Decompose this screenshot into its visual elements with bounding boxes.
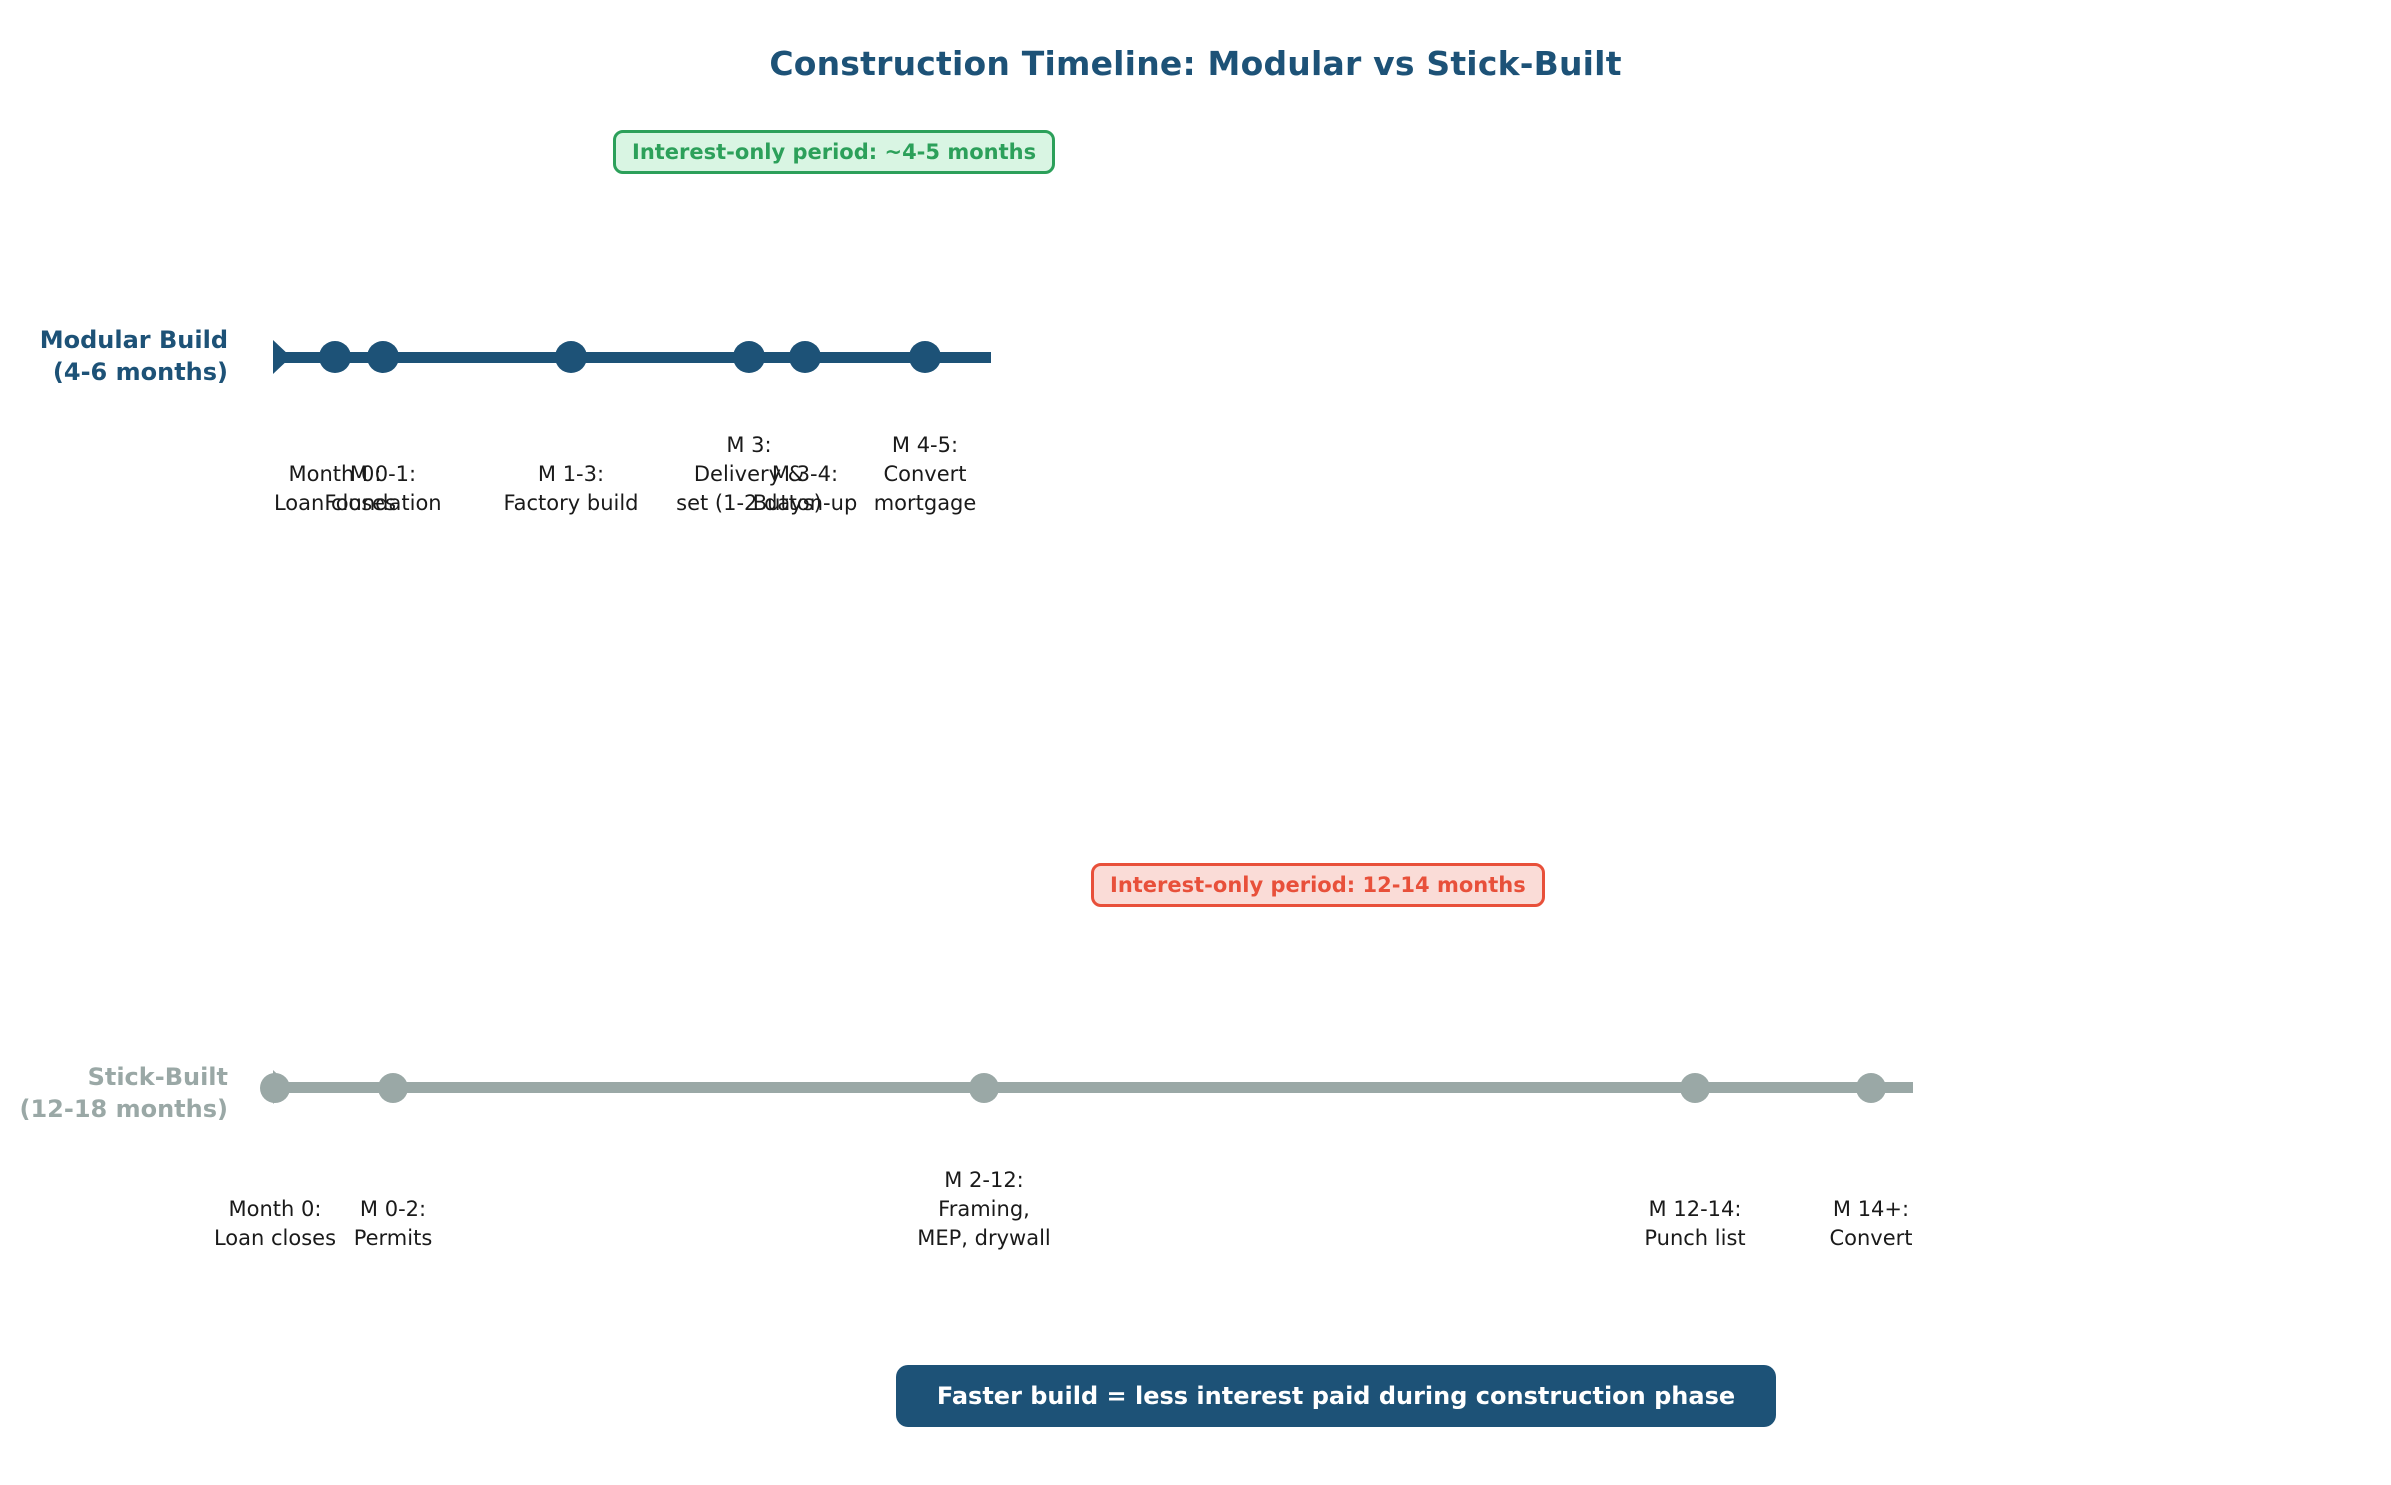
- milestone-dot[interactable]: [789, 341, 821, 373]
- milestone-label-line: Punch list: [1644, 1224, 1745, 1253]
- milestone-label: M 0-1:Foundation: [324, 460, 441, 518]
- milestone-label-line: M 0-2:: [354, 1195, 433, 1224]
- milestone-label: M 2-12:Framing,MEP, drywall: [917, 1166, 1051, 1253]
- milestone-dot[interactable]: [969, 1073, 999, 1103]
- timeline-canvas: Construction Timeline: Modular vs Stick-…: [0, 0, 2391, 1485]
- milestone-label-line: M 1-3:: [503, 460, 638, 489]
- milestone-label: M 4-5:Convertmortgage: [874, 431, 977, 518]
- milestone-label: M 0-2:Permits: [354, 1195, 433, 1253]
- modular-row-label-line2: (4-6 months): [0, 357, 228, 389]
- milestone-label-line: Framing,: [917, 1195, 1051, 1224]
- milestone-dot[interactable]: [378, 1073, 408, 1103]
- milestone-label: M 1-3:Factory build: [503, 460, 638, 518]
- milestone-label-line: M 2-12:: [917, 1166, 1051, 1195]
- stick-interest-badge: Interest-only period: 12-14 months: [1091, 863, 1545, 907]
- milestone-label: Month 0:Loan closes: [214, 1195, 336, 1253]
- page-title: Construction Timeline: Modular vs Stick-…: [0, 44, 2391, 83]
- stick-row-label-line2: (12-18 months): [0, 1094, 228, 1126]
- milestone-label-line: Foundation: [324, 489, 441, 518]
- modular-row-label-line1: Modular Build: [0, 325, 228, 357]
- milestone-dot[interactable]: [555, 341, 587, 373]
- milestone-label-line: mortgage: [874, 489, 977, 518]
- stick-timeline-axis: [273, 1082, 1913, 1093]
- milestone-label-line: MEP, drywall: [917, 1224, 1051, 1253]
- milestone-label-line: M 12-14:: [1644, 1195, 1745, 1224]
- milestone-label-line: Convert: [1829, 1224, 1912, 1253]
- modular-row-label: Modular Build (4-6 months): [0, 325, 228, 388]
- milestone-label-line: M 4-5:: [874, 431, 977, 460]
- milestone-label-line: M 0-1:: [324, 460, 441, 489]
- stick-row-label: Stick-Built (12-18 months): [0, 1062, 228, 1125]
- milestone-label-line: M 3-4:: [753, 460, 858, 489]
- modular-axis-arrow-icon: [273, 340, 291, 374]
- milestone-label-line: M 3:: [676, 431, 822, 460]
- milestone-label-line: Factory build: [503, 489, 638, 518]
- milestone-label-line: Button-up: [753, 489, 858, 518]
- milestone-label: M 14+:Convert: [1829, 1195, 1912, 1253]
- milestone-dot[interactable]: [319, 341, 351, 373]
- milestone-label-line: Month 0:: [214, 1195, 336, 1224]
- milestone-label-line: Permits: [354, 1224, 433, 1253]
- stick-row-label-line1: Stick-Built: [0, 1062, 228, 1094]
- milestone-dot[interactable]: [367, 341, 399, 373]
- footer-banner: Faster build = less interest paid during…: [896, 1365, 1776, 1427]
- milestone-dot[interactable]: [733, 341, 765, 373]
- milestone-dot[interactable]: [1856, 1073, 1886, 1103]
- milestone-label-line: Convert: [874, 460, 977, 489]
- milestone-dot[interactable]: [909, 341, 941, 373]
- milestone-label: M 12-14:Punch list: [1644, 1195, 1745, 1253]
- modular-interest-badge: Interest-only period: ~4-5 months: [613, 130, 1055, 174]
- milestone-dot[interactable]: [260, 1073, 290, 1103]
- milestone-label: M 3-4:Button-up: [753, 460, 858, 518]
- milestone-dot[interactable]: [1680, 1073, 1710, 1103]
- milestone-label-line: M 14+:: [1829, 1195, 1912, 1224]
- milestone-label-line: Loan closes: [214, 1224, 336, 1253]
